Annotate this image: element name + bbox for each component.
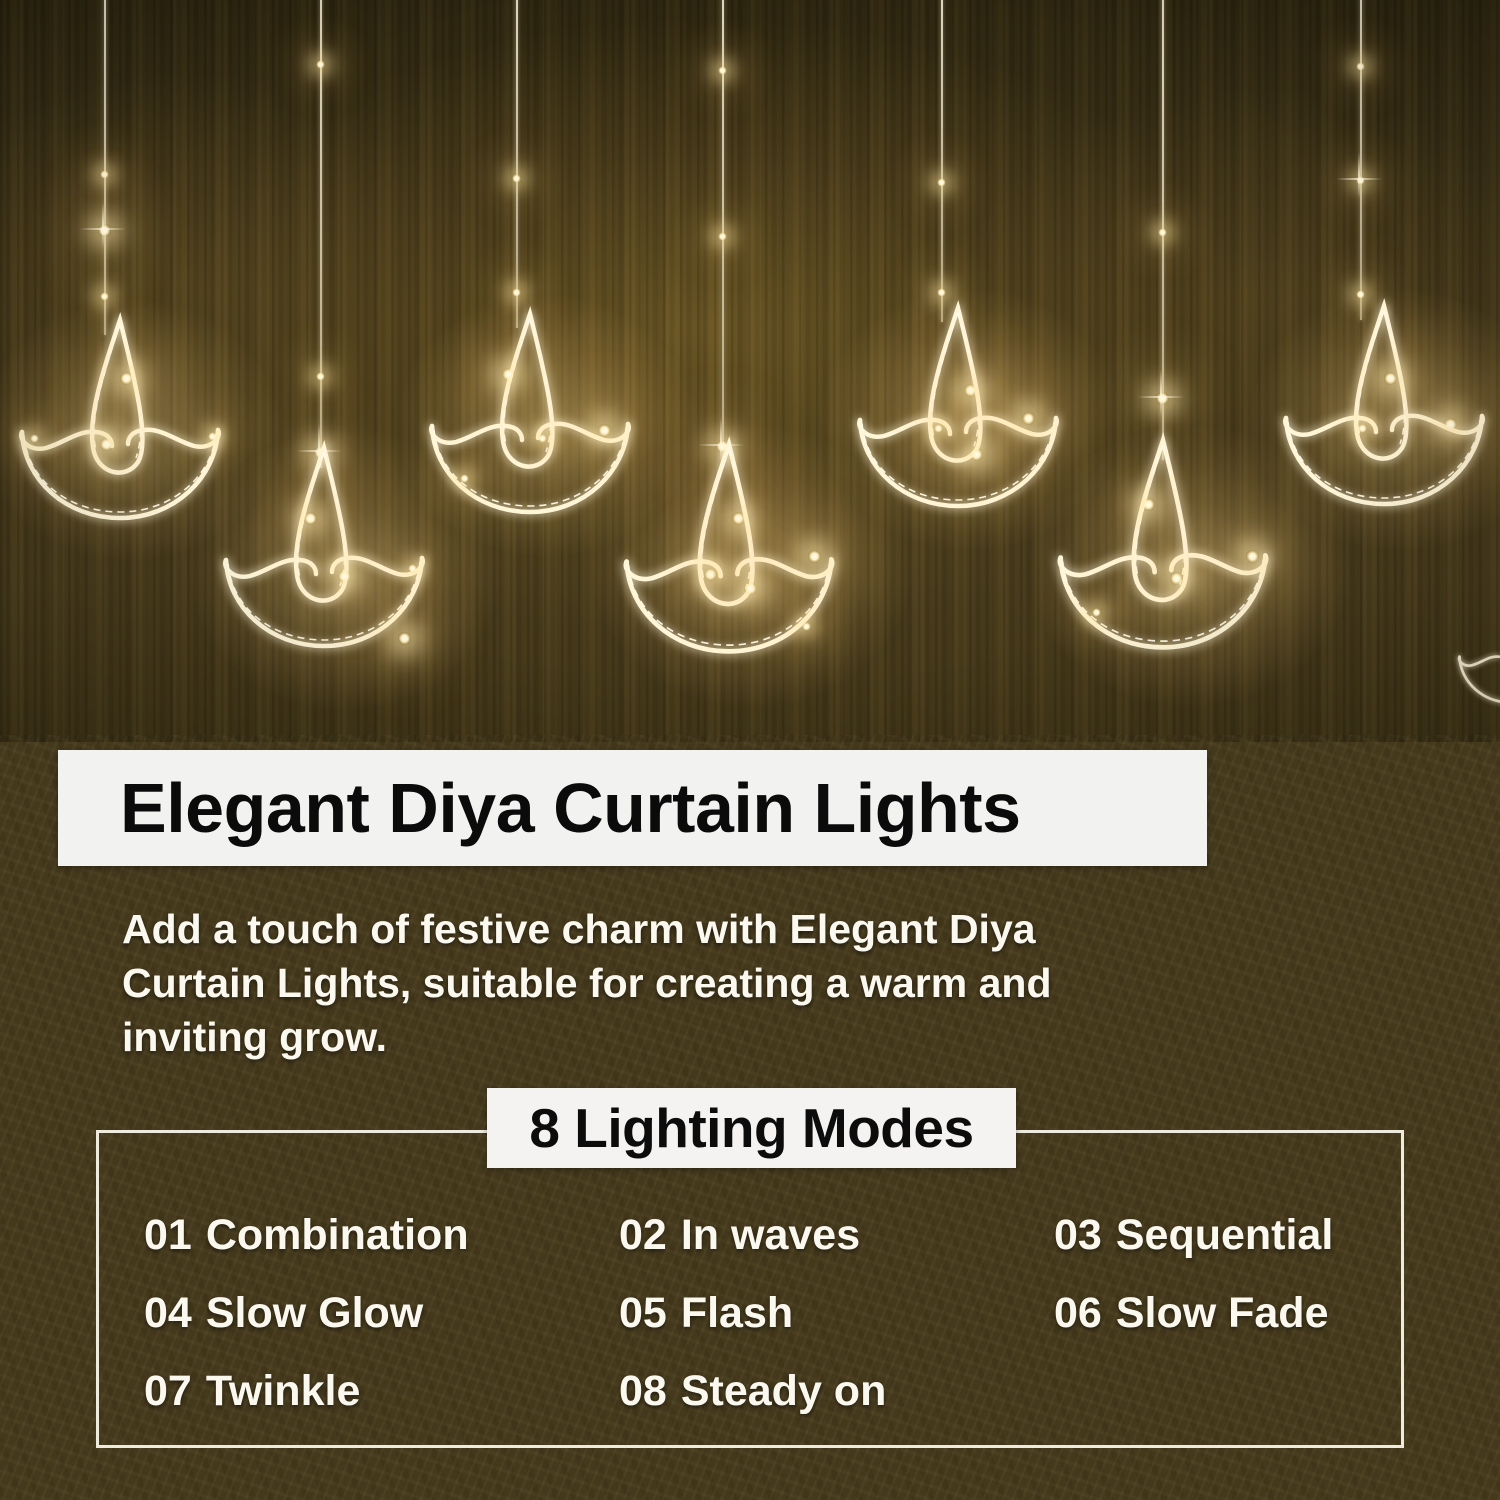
mode-number: 01 <box>144 1211 192 1260</box>
lighting-modes-heading: 8 Lighting Modes <box>529 1096 973 1160</box>
mode-item: 05 Flash <box>619 1274 1054 1352</box>
mode-number: 05 <box>619 1289 667 1338</box>
mode-label: Flash <box>681 1289 793 1338</box>
photo-vignette <box>0 0 1500 742</box>
title-banner: Elegant Diya Curtain Lights <box>58 750 1207 866</box>
mode-label: Slow Fade <box>1116 1289 1329 1338</box>
mode-item: 06 Slow Fade <box>1054 1274 1404 1352</box>
mode-label: Twinkle <box>206 1367 361 1416</box>
product-photo <box>0 0 1500 742</box>
mode-number: 02 <box>619 1211 667 1260</box>
mode-label: Sequential <box>1116 1211 1333 1260</box>
mode-number: 03 <box>1054 1211 1102 1260</box>
mode-item: 02 In waves <box>619 1196 1054 1274</box>
mode-number: 06 <box>1054 1289 1102 1338</box>
mode-item-empty <box>1054 1352 1404 1430</box>
mode-label: In waves <box>681 1211 860 1260</box>
lighting-modes-grid: 01 Combination 02 In waves 03 Sequential… <box>96 1180 1404 1448</box>
mode-item: 01 Combination <box>144 1196 619 1274</box>
mode-label: Combination <box>206 1211 469 1260</box>
product-description-text: Add a touch of festive charm with Elegan… <box>122 902 1052 1064</box>
mode-item: 07 Twinkle <box>144 1352 619 1430</box>
mode-item: 08 Steady on <box>619 1352 1054 1430</box>
lighting-modes-heading-banner: 8 Lighting Modes <box>487 1088 1016 1168</box>
mode-number: 04 <box>144 1289 192 1338</box>
mode-label: Slow Glow <box>206 1289 423 1338</box>
mode-number: 08 <box>619 1367 667 1416</box>
mode-item: 04 Slow Glow <box>144 1274 619 1352</box>
mode-item: 03 Sequential <box>1054 1196 1404 1274</box>
mode-label: Steady on <box>681 1367 887 1416</box>
product-description: Add a touch of festive charm with Elegan… <box>122 902 1052 1064</box>
product-infographic: Elegant Diya Curtain Lights Add a touch … <box>0 0 1500 1500</box>
page-title: Elegant Diya Curtain Lights <box>58 773 1021 843</box>
mode-number: 07 <box>144 1367 192 1416</box>
